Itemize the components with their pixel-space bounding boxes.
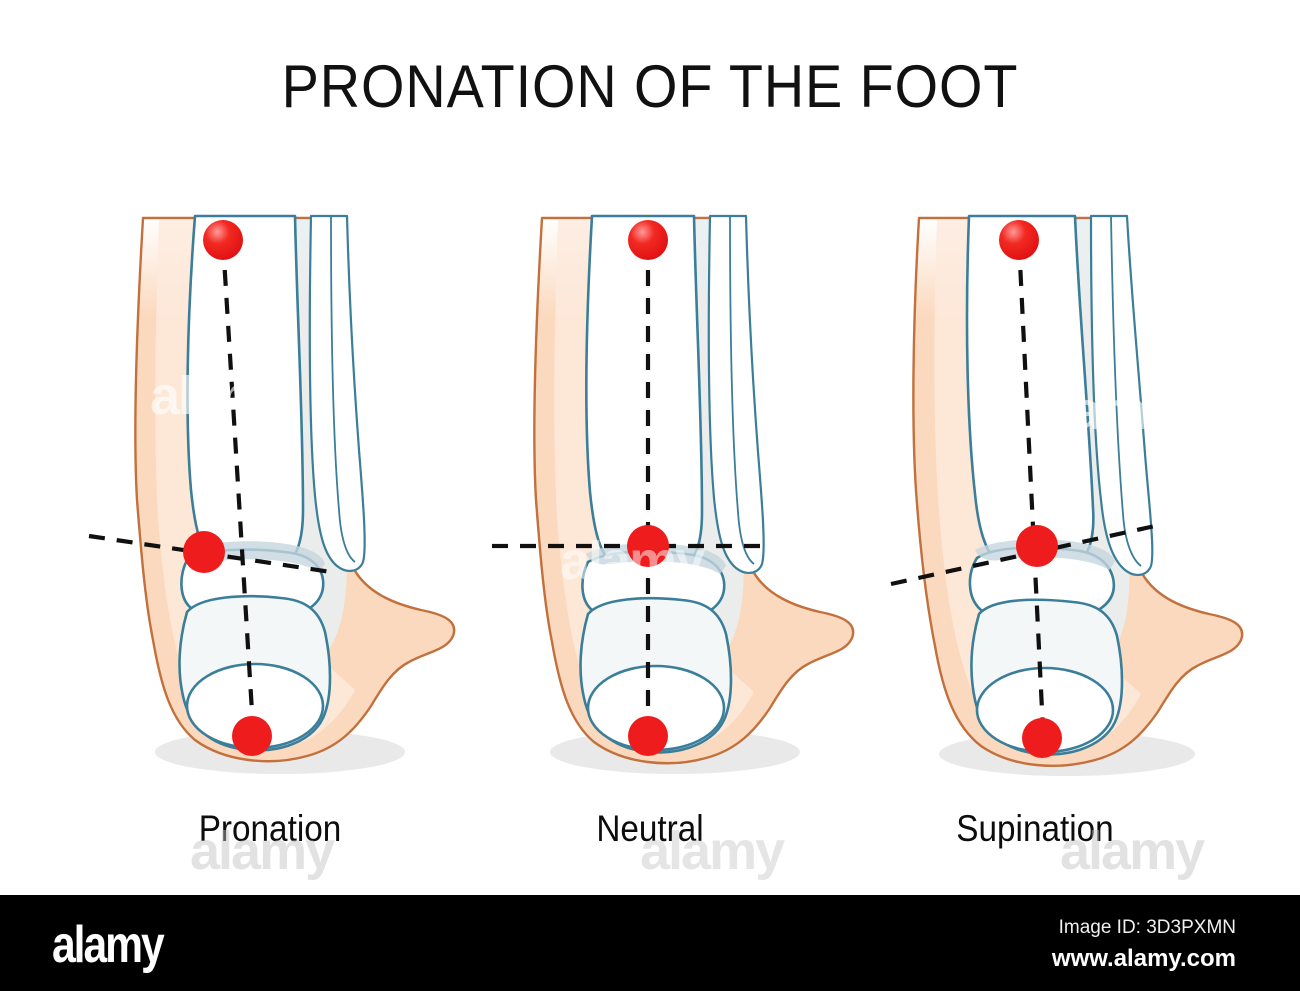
caption-pronation: Pronation [108, 808, 432, 850]
tibia-bone [586, 216, 702, 576]
figure-supination [855, 200, 1255, 800]
fibula-bone [310, 216, 365, 571]
heel-marker [1022, 718, 1062, 758]
heel-marker [232, 716, 272, 756]
image-id-label: Image ID: 3D3PXMN [1059, 917, 1236, 939]
ankle-joint-marker [627, 525, 669, 567]
caption-supination: Supination [873, 808, 1197, 850]
tibia-bone [967, 216, 1093, 577]
shin-marker [203, 220, 243, 260]
figure-pronation [75, 200, 475, 800]
alamy-url-label: www.alamy.com [1052, 945, 1236, 973]
ankle-joint-marker [183, 531, 225, 573]
shin-marker [999, 220, 1039, 260]
alamy-logo: alamy [52, 915, 163, 975]
fibula-bone [709, 216, 764, 573]
figure-neutral [470, 200, 870, 800]
page-title: PRONATION OF THE FOOT [46, 52, 1255, 121]
shin-marker [628, 220, 668, 260]
caption-neutral: Neutral [488, 808, 812, 850]
tibia-bone [188, 216, 303, 574]
watermark-footer-bar: alamy Image ID: 3D3PXMN www.alamy.com [0, 895, 1300, 991]
diagram-canvas: PRONATION OF THE FOOT [0, 0, 1300, 991]
ankle-joint-marker [1016, 525, 1058, 567]
heel-marker [628, 716, 668, 756]
